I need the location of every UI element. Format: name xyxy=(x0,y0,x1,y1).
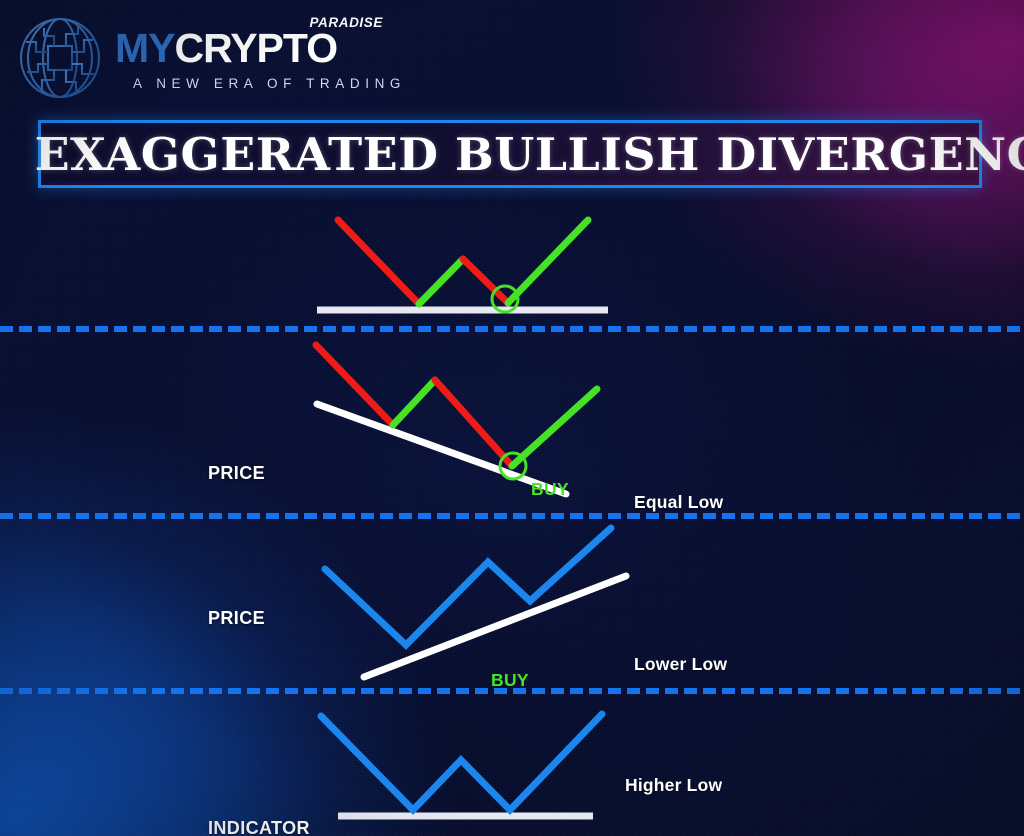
price-leg-up xyxy=(419,259,463,304)
divergence-diagram: PRICE Equal Low BUY PRICE Lower Low BUY … xyxy=(0,190,1024,836)
price-leg-up xyxy=(512,389,597,466)
globe-circuit-icon xyxy=(12,10,108,106)
price-leg-up xyxy=(508,220,588,303)
brand-crypto: CRYPTO xyxy=(175,25,338,71)
title-banner: EXAGGERATED BULLISH DIVERGENCE xyxy=(38,120,982,188)
panel-3-chart xyxy=(325,528,626,677)
panel-label-price-2: PRICE xyxy=(208,608,265,629)
side-label-lower-low: Lower Low xyxy=(634,654,727,675)
brand-name: MYCRYPTO xyxy=(115,26,337,70)
brand-tagline: A NEW ERA OF TRADING xyxy=(133,76,406,91)
panel-label-price-1: PRICE xyxy=(208,463,265,484)
price-leg-down xyxy=(316,345,393,425)
higher-low-trendline xyxy=(364,576,626,677)
price-leg-down xyxy=(338,220,419,304)
buy-label-1: BUY xyxy=(531,479,569,500)
side-label-equal-low-1: Equal Low xyxy=(634,492,723,513)
page-title: EXAGGERATED BULLISH DIVERGENCE xyxy=(35,128,986,181)
brand-wordmark: MYCRYPTO PARADISE A NEW ERA OF TRADING xyxy=(115,26,385,100)
panel-divider-group xyxy=(0,329,1024,691)
indicator-zigzag xyxy=(321,714,602,810)
panel-4-chart xyxy=(321,714,602,816)
brand-paradise: PARADISE xyxy=(309,15,383,30)
panel-2-chart xyxy=(316,345,597,494)
brand-my: MY xyxy=(115,25,175,71)
title-banner-inner: EXAGGERATED BULLISH DIVERGENCE xyxy=(44,126,976,182)
buy-label-2: BUY xyxy=(491,670,529,691)
panel-1-chart xyxy=(317,220,608,312)
chart-lines-layer xyxy=(0,190,1024,836)
indicator-zigzag xyxy=(325,528,611,645)
price-leg-down xyxy=(463,259,508,303)
poster-canvas: MYCRYPTO PARADISE A NEW ERA OF TRADING E… xyxy=(0,0,1024,836)
side-label-higher-low: Higher Low xyxy=(625,775,722,796)
price-leg-up xyxy=(393,380,435,425)
brand-logo: MYCRYPTO PARADISE A NEW ERA OF TRADING xyxy=(12,8,382,104)
panel-label-indicator-1: INDICATOR xyxy=(208,818,310,836)
